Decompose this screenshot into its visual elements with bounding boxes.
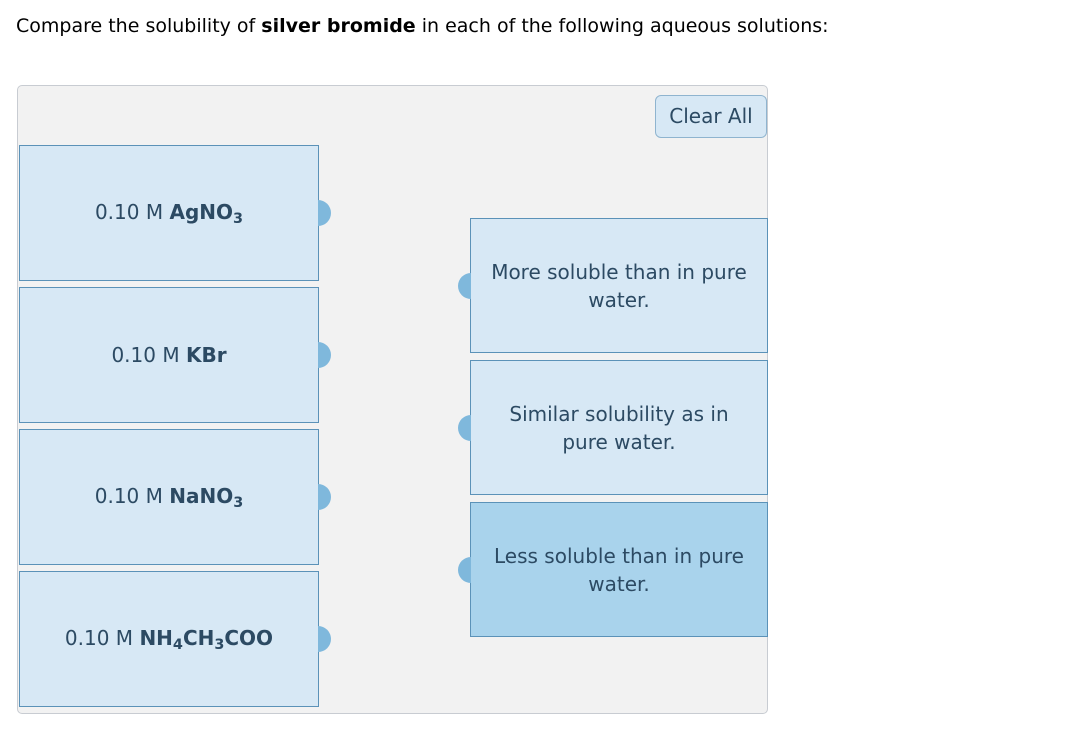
target-card-label: Less soluble than in pure water. bbox=[471, 542, 767, 598]
prompt-tail: in each of the following aqueous solutio… bbox=[416, 15, 829, 37]
prompt-lead: Compare the solubility of bbox=[16, 15, 261, 37]
source-card-label: 0.10 M NH4CH3COO bbox=[20, 624, 318, 655]
drop-target-card[interactable]: More soluble than in pure water. bbox=[470, 218, 768, 353]
source-card-label: 0.10 M KBr bbox=[20, 341, 318, 369]
page-title: Compare the solubility of silver bromide… bbox=[16, 13, 1066, 39]
draggable-source-card[interactable]: 0.10 M AgNO3 bbox=[19, 145, 319, 281]
target-card-label: More soluble than in pure water. bbox=[471, 258, 767, 314]
connector-nub-icon[interactable] bbox=[318, 342, 331, 368]
draggable-source-card[interactable]: 0.10 M KBr bbox=[19, 287, 319, 423]
connector-nub-icon[interactable] bbox=[458, 415, 471, 441]
prompt-emphasis: silver bromide bbox=[261, 15, 415, 37]
connector-nub-icon[interactable] bbox=[458, 557, 471, 583]
target-card-label: Similar solubility as in pure water. bbox=[471, 400, 767, 456]
drop-target-card[interactable]: Similar solubility as in pure water. bbox=[470, 360, 768, 495]
drop-target-card[interactable]: Less soluble than in pure water. bbox=[470, 502, 768, 637]
source-card-label: 0.10 M NaNO3 bbox=[20, 482, 318, 513]
connector-nub-icon[interactable] bbox=[458, 273, 471, 299]
draggable-source-card[interactable]: 0.10 M NH4CH3COO bbox=[19, 571, 319, 707]
connector-nub-icon[interactable] bbox=[318, 200, 331, 226]
clear-all-button[interactable]: Clear All bbox=[655, 95, 767, 138]
draggable-source-card[interactable]: 0.10 M NaNO3 bbox=[19, 429, 319, 565]
connector-nub-icon[interactable] bbox=[318, 484, 331, 510]
matching-activity-panel: Clear All 0.10 M AgNO3 0.10 M KBr 0.10 M… bbox=[17, 85, 768, 714]
connector-nub-icon[interactable] bbox=[318, 626, 331, 652]
source-card-label: 0.10 M AgNO3 bbox=[20, 198, 318, 229]
